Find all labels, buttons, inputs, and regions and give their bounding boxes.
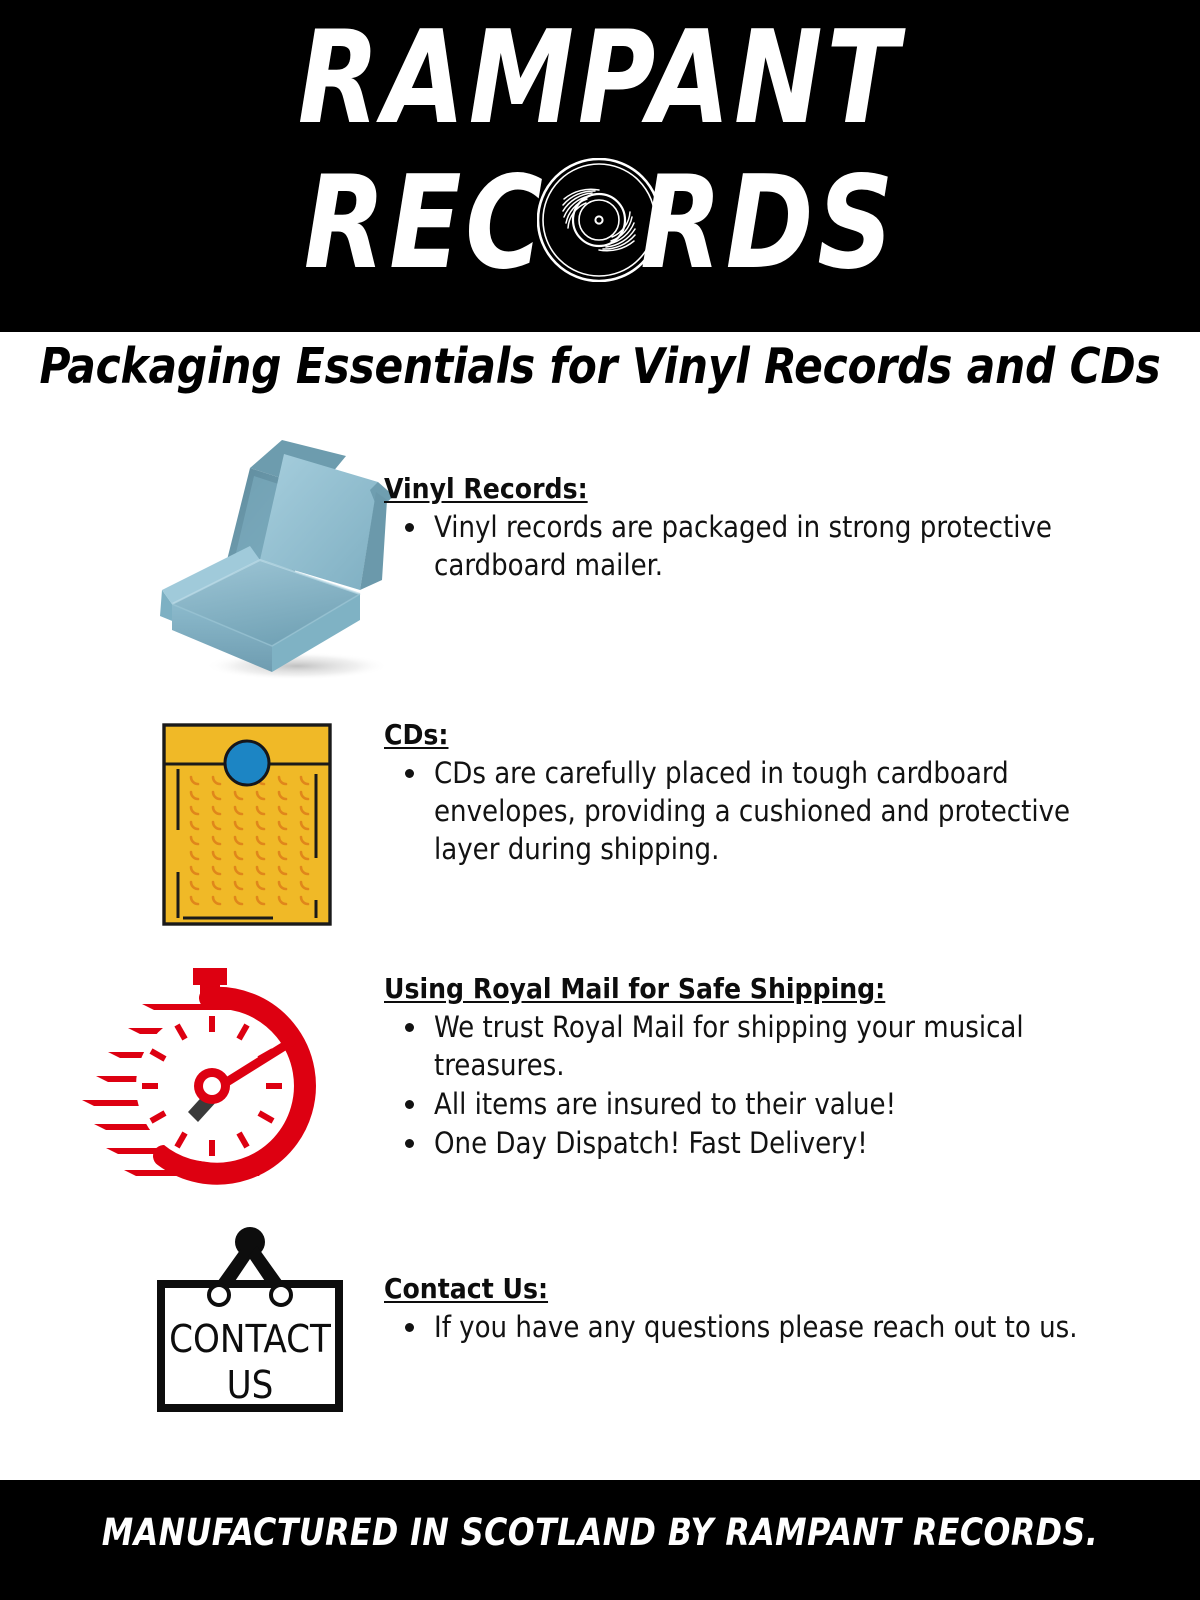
section-cds: CDs: CDs are carefully placed in tough c… xyxy=(0,712,1200,932)
section-heading: Contact Us: xyxy=(384,1272,1114,1306)
section-bullet-list: We trust Royal Mail for shipping your mu… xyxy=(384,1008,1114,1162)
contact-us-sign-icon: CONTACT US xyxy=(155,1222,345,1412)
section-vinyl-records-text: Vinyl Records: Vinyl records are package… xyxy=(384,472,1114,585)
page-title: Packaging Essentials for Vinyl Records a… xyxy=(24,336,1176,398)
list-item: If you have any questions please reach o… xyxy=(430,1308,1114,1346)
section-bullet-list: Vinyl records are packaged in strong pro… xyxy=(384,508,1114,584)
footer-band: MANUFACTURED IN SCOTLAND BY RAMPANT RECO… xyxy=(0,1480,1200,1600)
list-item: CDs are carefully placed in tough cardbo… xyxy=(430,754,1114,868)
list-item: One Day Dispatch! Fast Delivery! xyxy=(430,1124,1114,1162)
footer-text: MANUFACTURED IN SCOTLAND BY RAMPANT RECO… xyxy=(30,1510,1170,1556)
list-item: Vinyl records are packaged in strong pro… xyxy=(430,508,1114,584)
section-contact-us-text: Contact Us: If you have any questions pl… xyxy=(384,1272,1114,1347)
fast-stopwatch-icon xyxy=(80,960,360,1190)
brand-logo-line2-before: REC xyxy=(303,149,546,298)
section-bullet-list: CDs are carefully placed in tough cardbo… xyxy=(384,754,1114,868)
padded-bubble-envelope-icon xyxy=(161,722,333,927)
sign-line1: CONTACT xyxy=(169,1317,331,1361)
section-royal-mail-text: Using Royal Mail for Safe Shipping: We t… xyxy=(384,972,1114,1163)
brand-logo-line2-after: RDS xyxy=(640,149,897,298)
list-item: We trust Royal Mail for shipping your mu… xyxy=(430,1008,1114,1084)
section-heading: Vinyl Records: xyxy=(384,472,1114,506)
section-royal-mail: Using Royal Mail for Safe Shipping: We t… xyxy=(0,960,1200,1200)
cardboard-mailer-box-icon xyxy=(132,432,412,682)
section-contact-us: CONTACT US Contact Us: If you have any q… xyxy=(0,1222,1200,1412)
section-heading: CDs: xyxy=(384,718,1114,752)
section-cds-text: CDs: CDs are carefully placed in tough c… xyxy=(384,718,1114,869)
brand-logo-line2-wrapper: RECORDS xyxy=(0,148,1200,318)
section-bullet-list: If you have any questions please reach o… xyxy=(384,1308,1114,1346)
section-heading: Using Royal Mail for Safe Shipping: xyxy=(384,972,1114,1006)
list-item: All items are insured to their value! xyxy=(430,1085,1114,1123)
sign-line2: US xyxy=(227,1363,274,1407)
brand-logo-line1: RAMPANT xyxy=(48,6,1152,151)
section-vinyl-records: Vinyl Records: Vinyl records are package… xyxy=(0,432,1200,692)
brand-logo-line2: RECORDS xyxy=(303,148,896,300)
header-band: RAMPANT RECORDS xyxy=(0,0,1200,332)
